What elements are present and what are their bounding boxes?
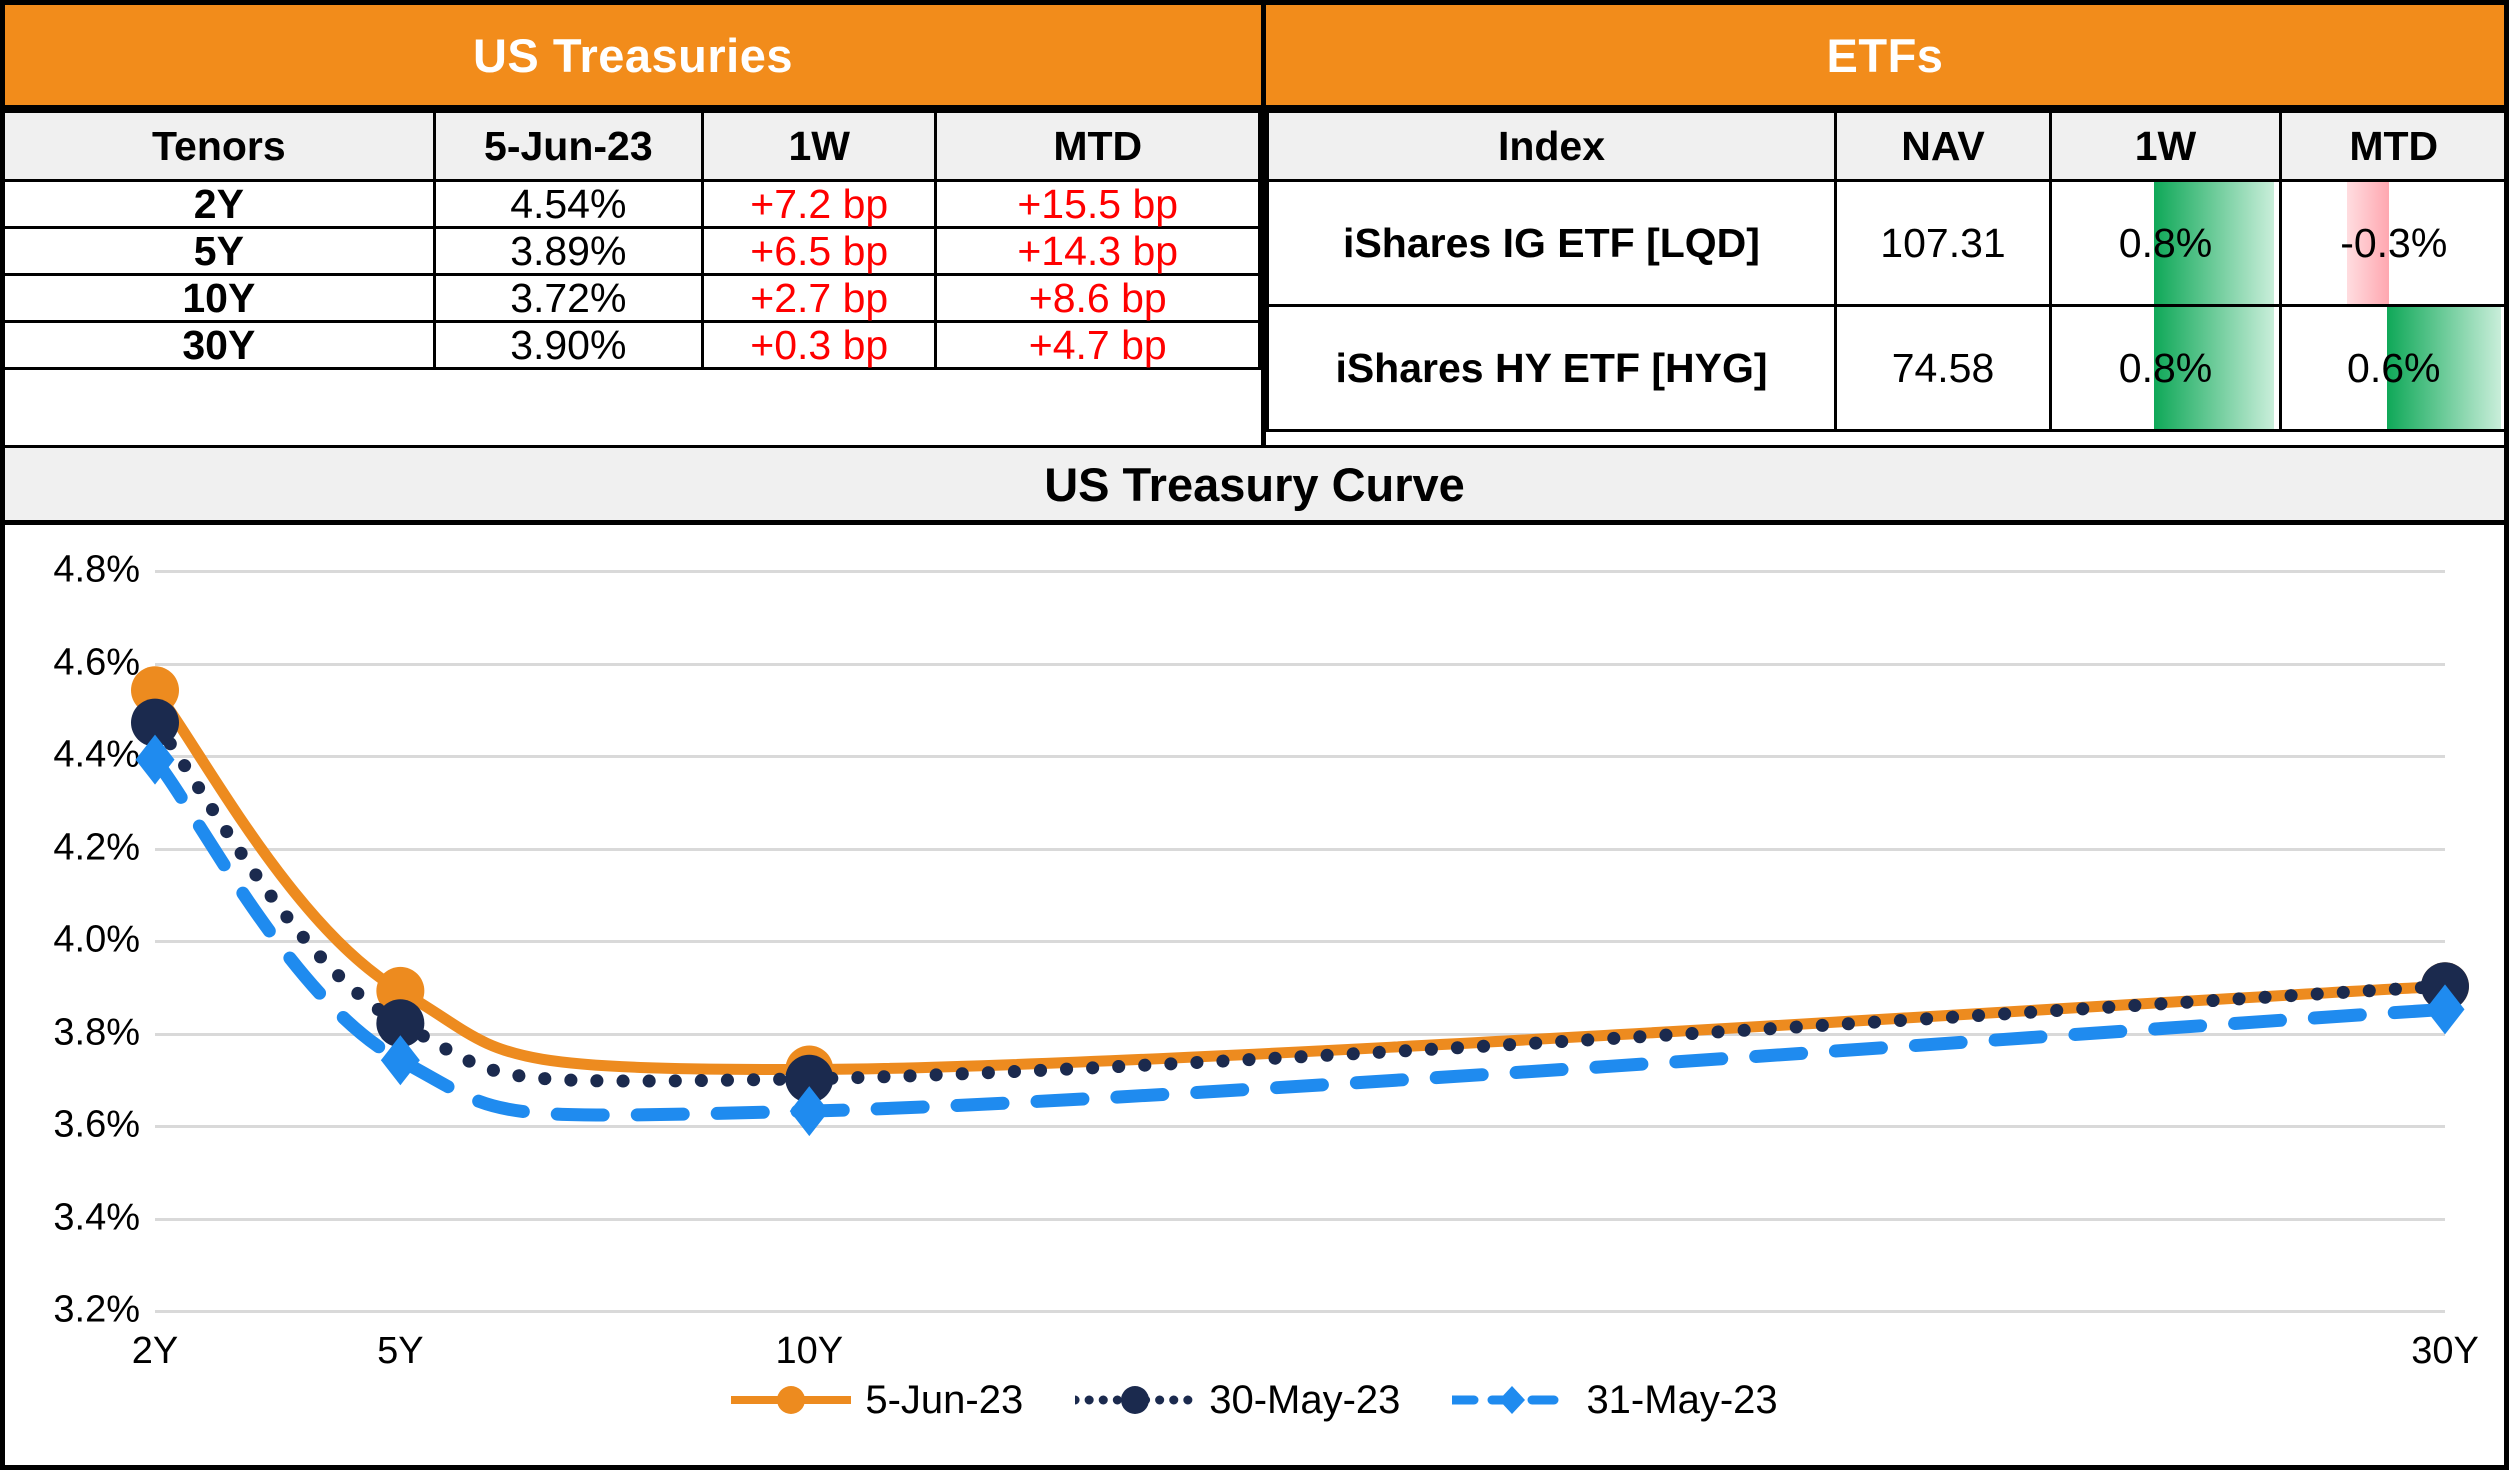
tenor-label: 10Y [5,275,434,322]
legend-key-icon [1452,1380,1572,1420]
table-row: iShares IG ETF [LQD] 107.31 0.8% -0.3% [1268,181,2506,306]
series-line-5-jun-23 [155,690,2445,1069]
y-axis-tick-label: 4.4% [53,734,140,777]
y-axis-labels: 4.8%4.6%4.4%4.2%4.0%3.8%3.6%3.4%3.2% [5,570,140,1310]
legend-key-icon [1075,1380,1195,1420]
y-axis-tick-label: 4.0% [53,919,140,962]
y-axis-tick-label: 3.2% [53,1289,140,1332]
table-row: 2Y 4.54% +7.2 bp +15.5 bp [5,181,1260,228]
legend-item-31-may-23[interactable]: 31-May-23 [1452,1378,1777,1423]
us-treasuries-title: US Treasuries [5,5,1261,110]
change-1w: +0.3 bp [702,322,936,369]
col-header-nav: NAV [1836,112,2051,181]
col-header-1w: 1W [702,112,936,181]
etf-mtd-value: 0.6% [2282,307,2506,429]
change-mtd: +15.5 bp [936,181,1260,228]
etf-1w-value: 0.8% [2052,182,2279,304]
yield-level: 3.89% [434,228,702,275]
etfs-title: ETFs [1266,5,2504,110]
table-row: iShares HY ETF [HYG] 74.58 0.8% 0.6% [1268,306,2506,431]
change-1w: +7.2 bp [702,181,936,228]
tenor-label: 5Y [5,228,434,275]
col-header-1w: 1W [2051,112,2281,181]
legend-label: 31-May-23 [1586,1378,1777,1423]
change-mtd: +14.3 bp [936,228,1260,275]
chart-panel-title: US Treasury Curve [5,445,2504,525]
y-axis-tick-label: 4.6% [53,641,140,684]
change-mtd: +4.7 bp [936,322,1260,369]
etfs-table: Index NAV 1W MTD iShares IG ETF [LQD] 10… [1266,110,2506,432]
y-axis-tick-label: 3.8% [53,1011,140,1054]
legend-label: 30-May-23 [1209,1378,1400,1423]
gridline [155,1310,2445,1313]
etf-index-name: iShares IG ETF [LQD] [1268,181,1836,306]
legend-item-30-may-23[interactable]: 30-May-23 [1075,1378,1400,1423]
y-axis-tick-label: 3.4% [53,1196,140,1239]
us-treasury-curve-chart: 4.8%4.6%4.4%4.2%4.0%3.8%3.6%3.4%3.2% 2Y5… [5,530,2504,1470]
table-row: 5Y 3.89% +6.5 bp +14.3 bp [5,228,1260,275]
us-treasuries-panel: US Treasuries Tenors 5-Jun-23 1W MTD 2Y … [5,5,1266,445]
tenor-label: 30Y [5,322,434,369]
change-1w: +2.7 bp [702,275,936,322]
y-axis-tick-label: 3.6% [53,1104,140,1147]
etf-nav-value: 74.58 [1836,306,2051,431]
change-mtd: +8.6 bp [936,275,1260,322]
table-row: 30Y 3.90% +0.3 bp +4.7 bp [5,322,1260,369]
us-treasuries-table: Tenors 5-Jun-23 1W MTD 2Y 4.54% +7.2 bp … [5,110,1261,370]
yield-level: 4.54% [434,181,702,228]
table-row: 10Y 3.72% +2.7 bp +8.6 bp [5,275,1260,322]
legend-key-icon [731,1380,851,1420]
tables-band: US Treasuries Tenors 5-Jun-23 1W MTD 2Y … [5,5,2504,445]
legend-item-5-jun-23[interactable]: 5-Jun-23 [731,1378,1023,1423]
col-header-date: 5-Jun-23 [434,112,702,181]
y-axis-tick-label: 4.8% [53,549,140,592]
plot-area [155,570,2445,1310]
etf-nav-value: 107.31 [1836,181,2051,306]
etf-mtd-cell: 0.6% [2281,306,2506,431]
etfs-panel: ETFs Index NAV 1W MTD iShares IG ETF [LQ… [1266,5,2504,445]
yield-level: 3.90% [434,322,702,369]
col-header-tenors: Tenors [5,112,434,181]
change-1w: +6.5 bp [702,228,936,275]
col-header-index: Index [1268,112,1836,181]
etf-1w-cell: 0.8% [2051,306,2281,431]
col-header-mtd: MTD [936,112,1260,181]
yield-level: 3.72% [434,275,702,322]
etf-index-name: iShares HY ETF [HYG] [1268,306,1836,431]
etf-mtd-cell: -0.3% [2281,181,2506,306]
legend-label: 5-Jun-23 [865,1378,1023,1423]
tenor-label: 2Y [5,181,434,228]
dashboard-root: US Treasuries Tenors 5-Jun-23 1W MTD 2Y … [0,0,2509,1470]
col-header-mtd: MTD [2281,112,2506,181]
etf-1w-value: 0.8% [2052,307,2279,429]
chart-legend: 5-Jun-2330-May-2331-May-23 [5,1365,2504,1435]
etfs-header-row: Index NAV 1W MTD [1268,112,2506,181]
treasuries-header-row: Tenors 5-Jun-23 1W MTD [5,112,1260,181]
series-lines [155,570,2445,1310]
etf-1w-cell: 0.8% [2051,181,2281,306]
etf-mtd-value: -0.3% [2282,182,2506,304]
y-axis-tick-label: 4.2% [53,826,140,869]
